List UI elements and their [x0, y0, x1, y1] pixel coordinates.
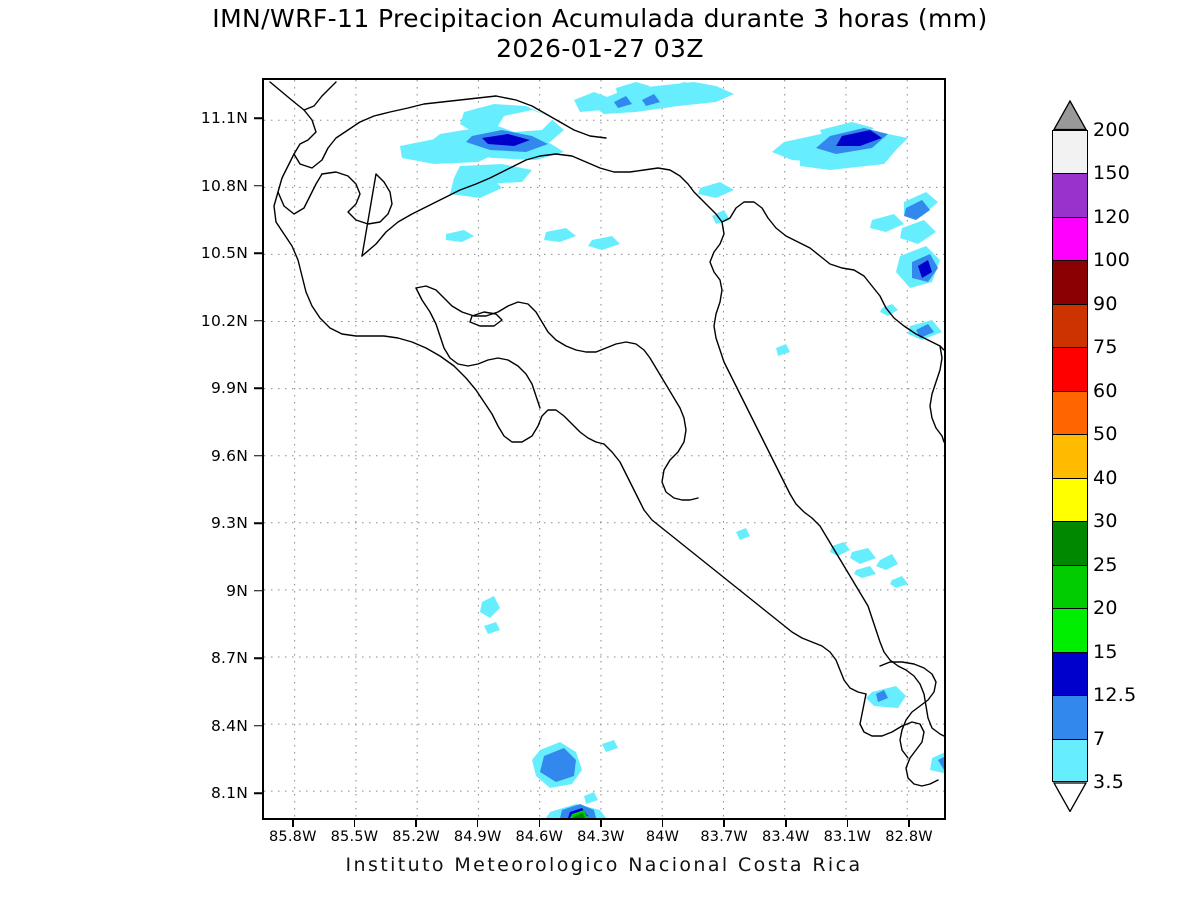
- colorbar-tick-label: 90: [1093, 293, 1118, 315]
- x-axis-tick-label: 84.3W: [577, 829, 625, 845]
- chart-title: IMN/WRF-11 Precipitacion Acumulada duran…: [0, 4, 1200, 34]
- colorbar[interactable]: [1052, 100, 1088, 812]
- colorbar-tick-label: 25: [1093, 554, 1118, 576]
- colorbar-segment: [1052, 608, 1088, 651]
- colorbar-tick-label: 150: [1093, 162, 1130, 184]
- y-axis-tick-mark: [254, 455, 262, 457]
- x-axis-tick-label: 84.9W: [454, 829, 502, 845]
- colorbar-segment: [1052, 478, 1088, 521]
- chart-subtitle: 2026-01-27 03Z: [0, 34, 1200, 64]
- y-axis-tick-label: 8.7N: [211, 649, 248, 667]
- colorbar-segment: [1052, 434, 1088, 477]
- weather-map-page: IMN/WRF-11 Precipitacion Acumulada duran…: [0, 0, 1200, 900]
- precip-layer-3p5: [400, 82, 944, 818]
- y-axis-tick-label: 9.6N: [211, 447, 248, 465]
- x-axis-tick-label: 84W: [646, 829, 679, 845]
- colorbar-under-arrow: [1052, 782, 1088, 812]
- x-axis-tick-mark: [539, 820, 541, 827]
- x-axis-tick-label: 84.6W: [515, 829, 563, 845]
- y-axis-tick-mark: [254, 522, 262, 524]
- x-axis-tick-label: 85.8W: [269, 829, 317, 845]
- colorbar-tick-label: 60: [1093, 380, 1118, 402]
- colorbar-segment: [1052, 347, 1088, 390]
- map-plot-area[interactable]: [262, 78, 946, 820]
- colorbar-segment: [1052, 130, 1088, 173]
- colorbar-segment: [1052, 217, 1088, 260]
- y-axis-tick-label: 8.1N: [211, 784, 248, 802]
- y-axis-tick-mark: [254, 388, 262, 390]
- y-axis-tick-mark: [254, 590, 262, 592]
- colorbar-segment: [1052, 652, 1088, 695]
- x-axis-tick-label: 85.2W: [392, 829, 440, 845]
- y-axis-tick-label: 9.3N: [211, 514, 248, 532]
- colorbar-tick-label: 30: [1093, 510, 1118, 532]
- colorbar-segment: [1052, 173, 1088, 216]
- x-axis-tick-label: 82.8W: [885, 829, 933, 845]
- colorbar-segment: [1052, 565, 1088, 608]
- colorbar-tick-label: 12.5: [1093, 684, 1137, 706]
- y-axis-tick-label: 9N: [226, 582, 248, 600]
- colorbar-tick-label: 120: [1093, 206, 1130, 228]
- colorbar-tick-label: 20: [1093, 597, 1118, 619]
- colorbar-tick-label: 200: [1093, 119, 1130, 141]
- colorbar-segment: [1052, 304, 1088, 347]
- map-canvas: [264, 80, 944, 818]
- x-axis-tick-mark: [847, 820, 849, 827]
- y-axis-tick-label: 10.2N: [201, 312, 248, 330]
- x-axis-tick-label: 83.4W: [762, 829, 810, 845]
- x-axis-tick-label: 83.7W: [700, 829, 748, 845]
- y-axis-tick-mark: [254, 118, 262, 120]
- y-axis-tick-mark: [254, 725, 262, 727]
- colorbar-over-arrow: [1052, 100, 1088, 130]
- y-axis: 11.1N10.8N10.5N10.2N9.9N9.6N9.3N9N8.7N8.…: [0, 78, 262, 820]
- colorbar-tick-label: 3.5: [1093, 771, 1124, 793]
- colorbar-tick-label: 15: [1093, 641, 1118, 663]
- x-axis-tick-mark: [477, 820, 479, 827]
- colorbar-tick-label: 7: [1093, 728, 1105, 750]
- colorbar-segment: [1052, 739, 1088, 782]
- y-axis-tick-label: 10.8N: [201, 177, 248, 195]
- x-axis-tick-label: 85.5W: [331, 829, 379, 845]
- chart-title-block: IMN/WRF-11 Precipitacion Acumulada duran…: [0, 4, 1200, 64]
- x-axis-tick-mark: [785, 820, 787, 827]
- x-axis-tick-mark: [662, 820, 664, 827]
- x-axis-tick-mark: [354, 820, 356, 827]
- colorbar-tick-label: 50: [1093, 423, 1118, 445]
- colorbar-segment: [1052, 521, 1088, 564]
- y-axis-tick-mark: [254, 792, 262, 794]
- colorbar-tick-label: 40: [1093, 467, 1118, 489]
- y-axis-tick-label: 8.4N: [211, 717, 248, 735]
- y-axis-tick-mark: [254, 320, 262, 322]
- footer-credit: Instituto Meteorologico Nacional Costa R…: [262, 854, 946, 876]
- colorbar-segment: [1052, 391, 1088, 434]
- y-axis-tick-mark: [254, 253, 262, 255]
- y-axis-tick-mark: [254, 657, 262, 659]
- y-axis-tick-label: 9.9N: [211, 379, 248, 397]
- y-axis-tick-label: 11.1N: [201, 109, 248, 127]
- colorbar-segment: [1052, 695, 1088, 738]
- x-axis-tick-mark: [415, 820, 417, 827]
- x-axis-tick-label: 83.1W: [824, 829, 872, 845]
- y-axis-tick-label: 10.5N: [201, 244, 248, 262]
- x-axis-tick-mark: [600, 820, 602, 827]
- map-gridlines: [264, 80, 944, 818]
- y-axis-tick-mark: [254, 185, 262, 187]
- colorbar-segment: [1052, 260, 1088, 303]
- x-axis-tick-mark: [723, 820, 725, 827]
- map-graphics: [264, 80, 944, 818]
- colorbar-tick-label: 75: [1093, 336, 1118, 358]
- x-axis-tick-mark: [292, 820, 294, 827]
- colorbar-tick-label: 100: [1093, 249, 1130, 271]
- x-axis-tick-mark: [908, 820, 910, 827]
